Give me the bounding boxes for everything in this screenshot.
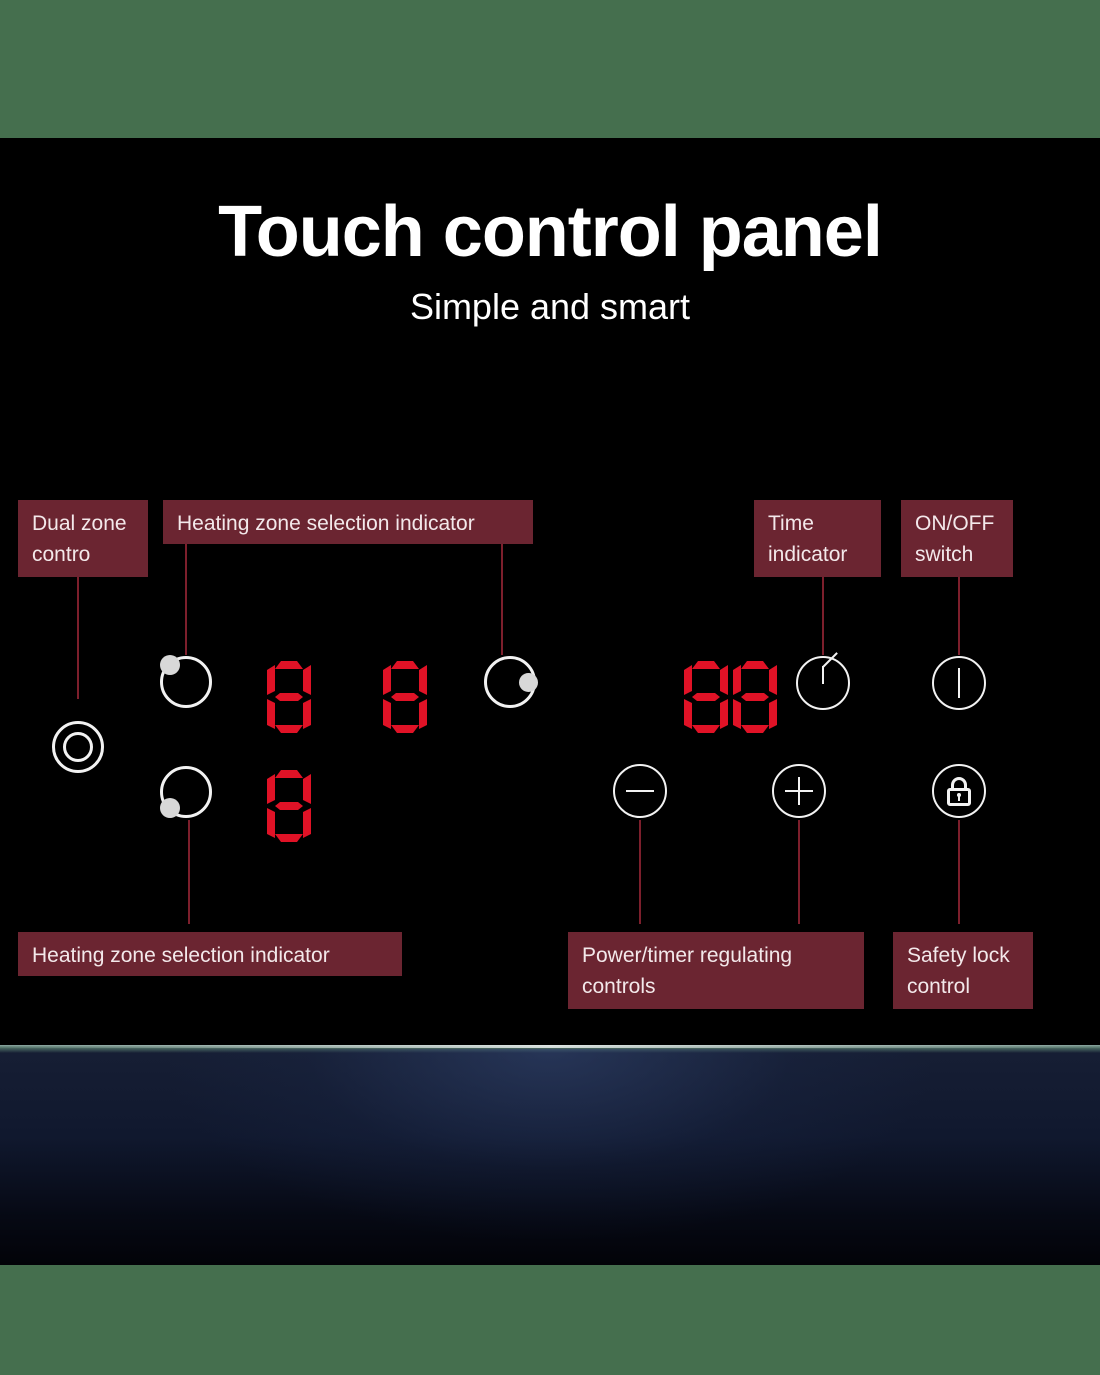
padlock-icon-keyhole-stem bbox=[958, 796, 960, 801]
callout-time-indicator: Time indicator bbox=[754, 500, 881, 577]
cooktop-control-panel: Touch control panel Simple and smart Dua… bbox=[0, 138, 1100, 1045]
plus-icon-vertical bbox=[798, 777, 800, 805]
page-subtitle: Simple and smart bbox=[0, 289, 1100, 325]
connector-time-indicator bbox=[822, 577, 824, 655]
power-on-off-icon-bar bbox=[958, 668, 960, 698]
zone-middle-display: 8 bbox=[382, 661, 428, 733]
glass-reflection-glow bbox=[170, 1049, 930, 1239]
timer-digit-ones: 8 bbox=[732, 661, 778, 733]
connector-heating-zone-top-left bbox=[185, 544, 187, 655]
on-off-switch-button[interactable] bbox=[932, 656, 986, 710]
product-feature-image: Touch control panel Simple and smart Dua… bbox=[0, 0, 1100, 1375]
zone-bottom-display: 8 bbox=[266, 770, 312, 842]
zone-ring-dot-upper-left-icon bbox=[160, 655, 180, 675]
callout-power-timer-controls: Power/timer regulating controls bbox=[568, 932, 864, 1009]
callout-dual-zone-control: Dual zone contro bbox=[18, 500, 148, 577]
glass-edge-highlight bbox=[0, 1045, 1100, 1048]
callout-heating-zone-top: Heating zone selection indicator bbox=[163, 500, 533, 544]
connector-power-timer-plus bbox=[798, 820, 800, 924]
power-increase-button[interactable] bbox=[772, 764, 826, 818]
zone-left-display: 8 bbox=[266, 661, 312, 733]
zone-select-top-left-button[interactable] bbox=[160, 656, 212, 708]
zone-ring-dot-lower-left-icon bbox=[160, 798, 180, 818]
connector-safety-lock bbox=[958, 820, 960, 924]
minus-icon bbox=[626, 790, 654, 792]
callout-safety-lock-control: Safety lock control bbox=[893, 932, 1033, 1009]
power-decrease-button[interactable] bbox=[613, 764, 667, 818]
clock-icon-hand-hour bbox=[822, 666, 824, 684]
safety-lock-button[interactable] bbox=[932, 764, 986, 818]
connector-dual-zone bbox=[77, 577, 79, 699]
connector-heating-zone-bottom bbox=[188, 820, 190, 924]
connector-power-timer-minus bbox=[639, 820, 641, 924]
callout-heating-zone-bottom: Heating zone selection indicator bbox=[18, 932, 402, 976]
timer-clock-button[interactable] bbox=[796, 656, 850, 710]
callout-on-off-switch: ON/OFF switch bbox=[901, 500, 1013, 577]
zone-select-bottom-left-button[interactable] bbox=[160, 766, 212, 818]
dual-zone-control-button[interactable] bbox=[52, 721, 104, 773]
page-title: Touch control panel bbox=[0, 196, 1100, 268]
cooktop-glass-surface bbox=[0, 1045, 1100, 1265]
concentric-rings-icon-inner bbox=[63, 732, 93, 762]
zone-ring-dot-right-icon bbox=[519, 673, 538, 692]
connector-heating-zone-top-right bbox=[501, 544, 503, 655]
zone-select-top-right-button[interactable] bbox=[484, 656, 536, 708]
timer-digit-tens: 8 bbox=[683, 661, 729, 733]
connector-on-off-switch bbox=[958, 577, 960, 655]
timer-display: 8 8 bbox=[683, 661, 779, 733]
